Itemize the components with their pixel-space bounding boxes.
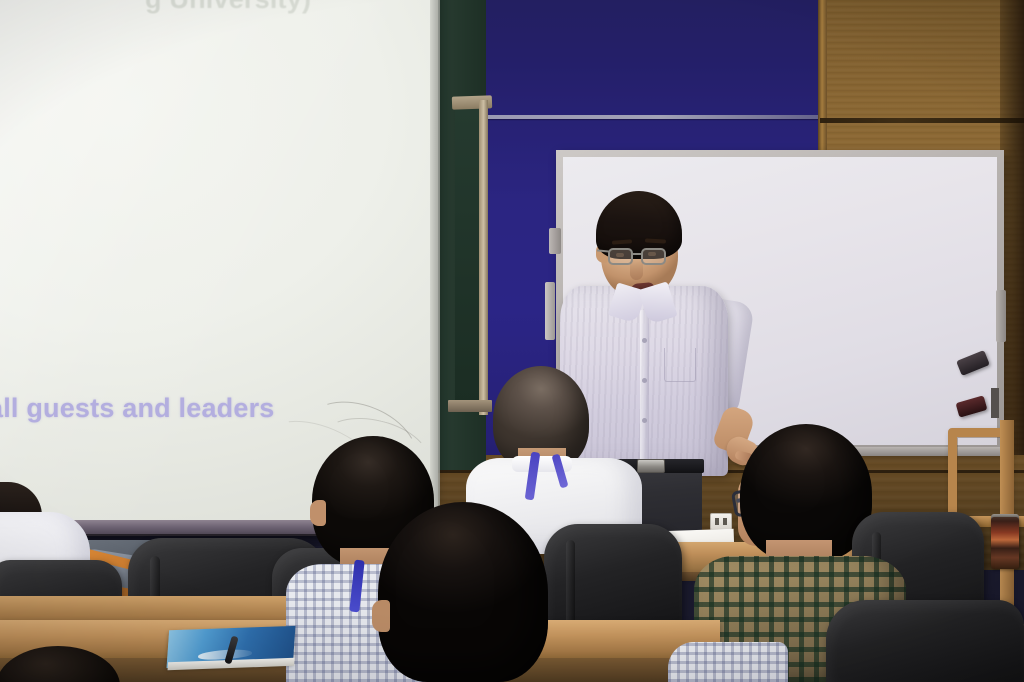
attendee-c-head: [378, 502, 548, 682]
eyeglasses-lens-right: [641, 248, 666, 265]
presenter-shirt-placket: [640, 310, 649, 470]
presenter-shirt-pocket: [664, 348, 696, 382]
attendee-c-ear: [372, 600, 390, 632]
whiteboard-mount: [991, 388, 999, 418]
office-chair-right-front: [826, 600, 1024, 682]
eyeglasses-bridge: [633, 253, 641, 255]
projection-screen-right-edge: [430, 0, 440, 534]
classroom-scene: g University) all guests and leaders: [0, 0, 1024, 682]
shirt-button: [642, 338, 647, 343]
whiteboard-clip-right: [996, 290, 1006, 342]
presenter-belt-buckle: [637, 459, 665, 473]
beverage-can: [991, 517, 1019, 569]
attendee-b-ear: [310, 500, 326, 526]
shirt-button: [642, 378, 647, 383]
chalkboard-frame-right: [479, 100, 488, 415]
slide-top-text: g University): [145, 0, 311, 15]
presenter-nose: [630, 258, 643, 280]
chalkboard-frame-bottom: [448, 400, 492, 412]
slide-main-text: all guests and leaders: [0, 393, 275, 424]
blue-wall-seam: [430, 115, 850, 119]
chalkboard-surface: [455, 108, 481, 404]
attendee-g-sleeve: [668, 642, 788, 682]
shirt-button: [642, 418, 647, 423]
wood-panel-seam: [820, 118, 1024, 123]
